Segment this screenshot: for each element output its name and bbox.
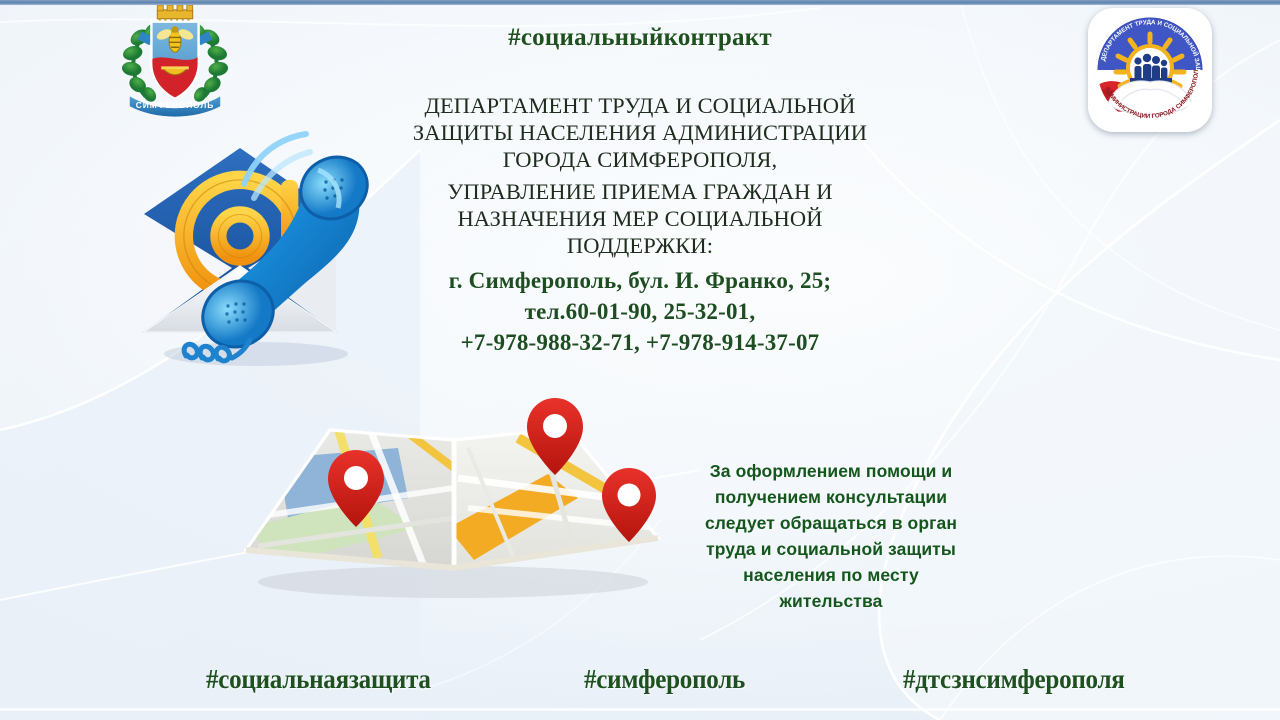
- slide-canvas: СИМФЕРОПОЛЬ: [0, 0, 1280, 720]
- org-line: ПОДДЕРЖКИ:: [356, 232, 924, 259]
- hashtag-row: #социальнаязащита #симферополь #дтсзнсим…: [0, 664, 1280, 710]
- email-phone-illustration: [128, 118, 378, 380]
- org-line: ЗАЩИТЫ НАСЕЛЕНИЯ АДМИНИСТРАЦИИ: [356, 119, 924, 146]
- folded-map-illustration: [218, 378, 688, 626]
- page-title-hashtag: #социальныйконтракт: [340, 24, 940, 52]
- address-line: г. Симферополь, бул. И. Франко, 25;: [356, 265, 924, 296]
- phone-landline-line: тел.60-01-90, 25-32-01,: [356, 296, 924, 327]
- note-line: населения по месту: [672, 562, 990, 588]
- note-line: За оформлением помощи и: [672, 458, 990, 484]
- hashtag-dtszn-simferopol: #дтсзнсимферополя: [903, 664, 1125, 695]
- org-line: НАЗНАЧЕНИЯ МЕР СОЦИАЛЬНОЙ: [356, 205, 924, 232]
- note-line: следует обращаться в орган: [672, 510, 990, 536]
- org-line: УПРАВЛЕНИЕ ПРИЕМА ГРАЖДАН И: [356, 178, 924, 205]
- top-chrome-bar: [0, 0, 1280, 5]
- coat-of-arms-simferopol-icon: СИМФЕРОПОЛЬ: [116, 2, 234, 122]
- bottom-chrome-bar: [0, 711, 1280, 720]
- note-line: получением консультации: [672, 484, 990, 510]
- hashtag-social-protection: #социальнаязащита: [206, 664, 431, 695]
- note-line: жительства: [672, 588, 990, 614]
- hashtag-simferopol: #симферополь: [584, 664, 745, 695]
- org-line: ДЕПАРТАМЕНТ ТРУДА И СОЦИАЛЬНОЙ: [356, 92, 924, 119]
- department-logo: ДЕПАРТАМЕНТ ТРУДА И СОЦИАЛЬНОЙ ЗАЩИТЫ НА…: [1088, 8, 1212, 132]
- guidance-note-block: За оформлением помощи и получением консу…: [672, 458, 990, 614]
- ribbon-text: СИМФЕРОПОЛЬ: [136, 100, 215, 110]
- phone-mobile-line: +7-978-988-32-71, +7-978-914-37-07: [356, 327, 924, 358]
- organization-text-block: ДЕПАРТАМЕНТ ТРУДА И СОЦИАЛЬНОЙ ЗАЩИТЫ НА…: [356, 92, 924, 358]
- org-line: ГОРОДА СИМФЕРОПОЛЯ,: [356, 146, 924, 173]
- note-line: труда и социальной защиты: [672, 536, 990, 562]
- ribbon-city-name: СИМФЕРОПОЛЬ: [130, 96, 220, 116]
- shield-icon: [151, 22, 198, 99]
